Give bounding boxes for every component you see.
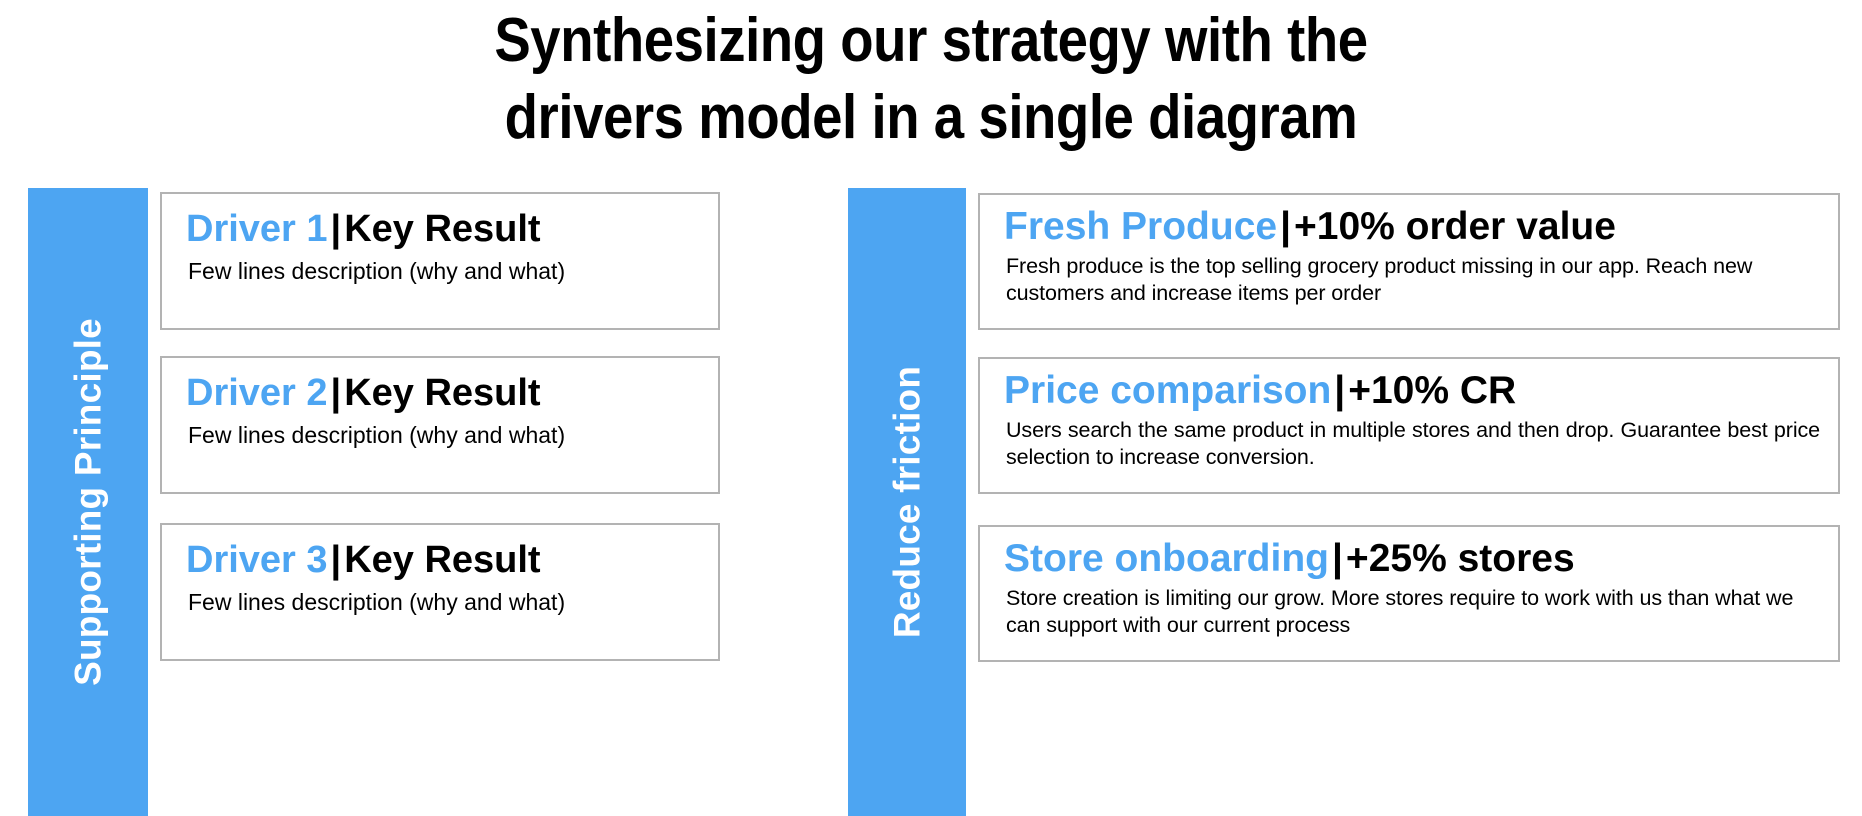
driver-card[interactable]: Fresh Produce|+10% order value Fresh pro… xyxy=(978,193,1840,330)
driver-card-separator: | xyxy=(1277,205,1294,248)
driver-card-key-result: +10% order value xyxy=(1294,205,1616,248)
driver-card-key-result: Key Result xyxy=(344,372,540,414)
driver-card-key-result: +25% stores xyxy=(1346,537,1575,580)
driver-card-heading: Price comparison|+10% CR xyxy=(1004,369,1828,413)
driver-card-body: Few lines description (why and what) xyxy=(188,587,704,617)
page-title-line-1: Synthesizing our strategy with the xyxy=(112,2,1751,79)
driver-card-body: Few lines description (why and what) xyxy=(188,420,704,450)
driver-card-body: Fresh produce is the top selling grocery… xyxy=(1006,253,1820,307)
driver-card-key-result: Key Result xyxy=(344,539,540,581)
driver-card[interactable]: Store onboarding|+25% stores Store creat… xyxy=(978,525,1840,662)
driver-card-body: Few lines description (why and what) xyxy=(188,256,704,286)
driver-card-heading: Driver 3|Key Result xyxy=(186,538,708,582)
driver-card-heading: Driver 1|Key Result xyxy=(186,207,708,251)
band-supporting-principle: Supporting Principle xyxy=(28,188,148,816)
driver-card-body: Users search the same product in multipl… xyxy=(1006,417,1820,471)
driver-card-separator: | xyxy=(1329,537,1346,580)
driver-card-separator: | xyxy=(328,372,345,414)
driver-card-heading: Store onboarding|+25% stores xyxy=(1004,537,1828,581)
driver-card-key-result: +10% CR xyxy=(1348,369,1516,412)
driver-card-driver-label: Driver 2 xyxy=(186,372,328,414)
driver-card-body: Store creation is limiting our grow. Mor… xyxy=(1006,585,1820,639)
driver-card-driver-label: Store onboarding xyxy=(1004,537,1329,580)
driver-card[interactable]: Driver 2|Key Result Few lines descriptio… xyxy=(160,356,720,494)
band-label-supporting-principle: Supporting Principle xyxy=(70,318,107,686)
driver-card-driver-label: Driver 3 xyxy=(186,539,328,581)
driver-card[interactable]: Driver 3|Key Result Few lines descriptio… xyxy=(160,523,720,661)
driver-card-driver-label: Driver 1 xyxy=(186,208,328,250)
driver-card-driver-label: Fresh Produce xyxy=(1004,205,1277,248)
driver-card-heading: Driver 2|Key Result xyxy=(186,371,708,415)
driver-card-separator: | xyxy=(1331,369,1348,412)
driver-card[interactable]: Price comparison|+10% CR Users search th… xyxy=(978,357,1840,494)
driver-card[interactable]: Driver 1|Key Result Few lines descriptio… xyxy=(160,192,720,330)
driver-card-separator: | xyxy=(328,208,345,250)
driver-card-key-result: Key Result xyxy=(344,208,540,250)
page-title: Synthesizing our strategy with the drive… xyxy=(112,2,1751,156)
driver-card-separator: | xyxy=(328,539,345,581)
driver-card-heading: Fresh Produce|+10% order value xyxy=(1004,205,1828,249)
band-label-reduce-friction: Reduce friction xyxy=(889,366,926,638)
band-reduce-friction: Reduce friction xyxy=(848,188,966,816)
page-title-line-2: drivers model in a single diagram xyxy=(112,79,1751,156)
driver-card-driver-label: Price comparison xyxy=(1004,369,1331,412)
